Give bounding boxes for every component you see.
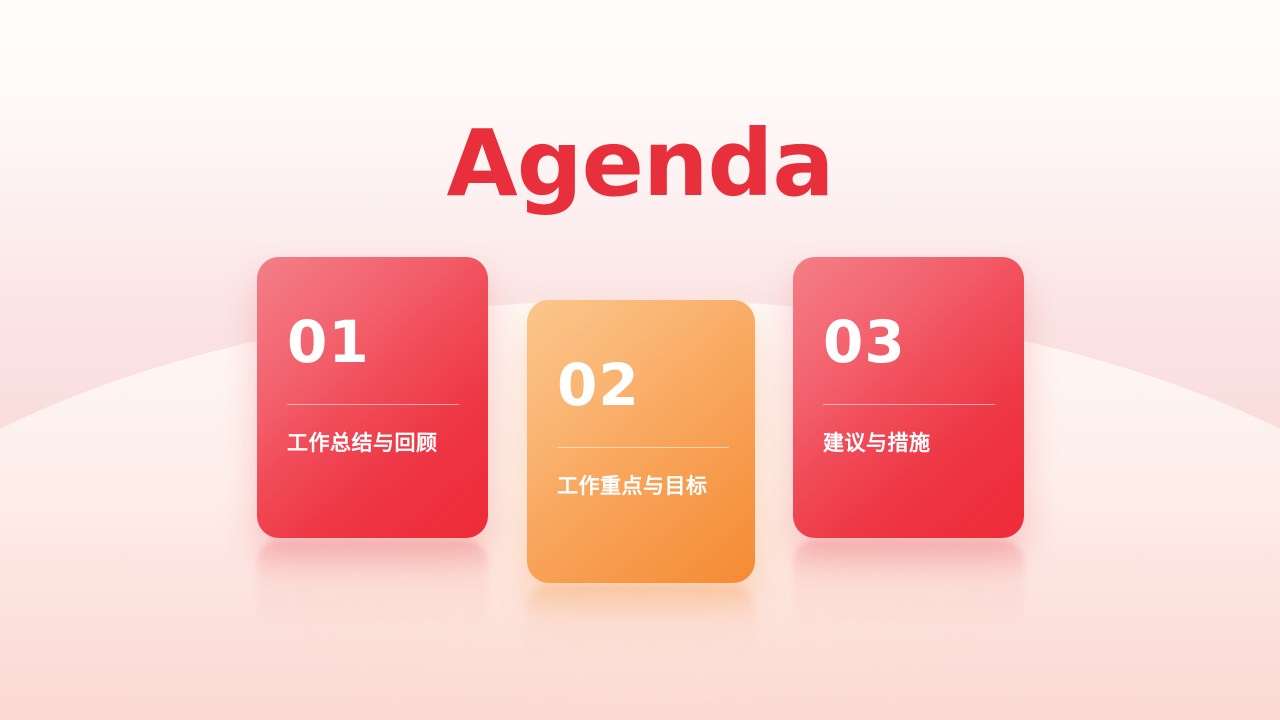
agenda-card-label-03: 建议与措施 [823, 431, 931, 456]
agenda-card-divider-02 [557, 447, 729, 448]
page-title: Agenda [0, 118, 1280, 210]
agenda-card-divider-03 [823, 404, 995, 405]
agenda-card-label-02: 工作重点与目标 [557, 474, 708, 499]
agenda-card-number-02: 02 [557, 356, 640, 414]
agenda-slide: Agenda 01 工作总结与回顾 02 工作重点与目标 03 建议与措施 [0, 0, 1280, 720]
card-reflection-01 [257, 540, 488, 628]
agenda-card-label-01: 工作总结与回顾 [287, 431, 438, 456]
agenda-card-divider-01 [287, 404, 459, 405]
card-reflection-02 [527, 585, 755, 665]
agenda-card-number-01: 01 [287, 313, 370, 371]
agenda-card-03[interactable]: 03 建议与措施 [793, 257, 1024, 538]
agenda-card-02[interactable]: 02 工作重点与目标 [527, 300, 755, 583]
agenda-card-01[interactable]: 01 工作总结与回顾 [257, 257, 488, 538]
card-reflection-03 [793, 540, 1024, 628]
agenda-card-number-03: 03 [823, 313, 906, 371]
